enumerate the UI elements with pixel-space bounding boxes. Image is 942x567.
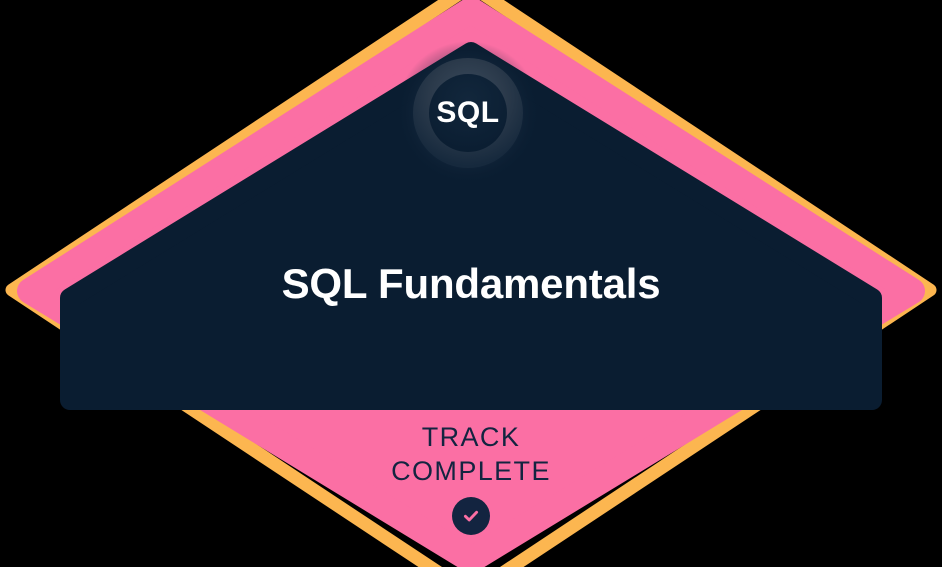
track-completion-badge: SQL SQL Fundamentals TRACK COMPLETE: [0, 0, 942, 567]
check-icon: [460, 505, 482, 527]
track-title: SQL Fundamentals: [0, 258, 942, 310]
track-status-block: TRACK COMPLETE: [0, 420, 942, 535]
sql-circle-emblem: SQL: [413, 58, 523, 168]
status-line-complete: COMPLETE: [0, 454, 942, 488]
status-line-track: TRACK: [0, 420, 942, 454]
completion-check-badge: [452, 497, 490, 535]
sql-emblem-label: SQL: [436, 98, 499, 128]
